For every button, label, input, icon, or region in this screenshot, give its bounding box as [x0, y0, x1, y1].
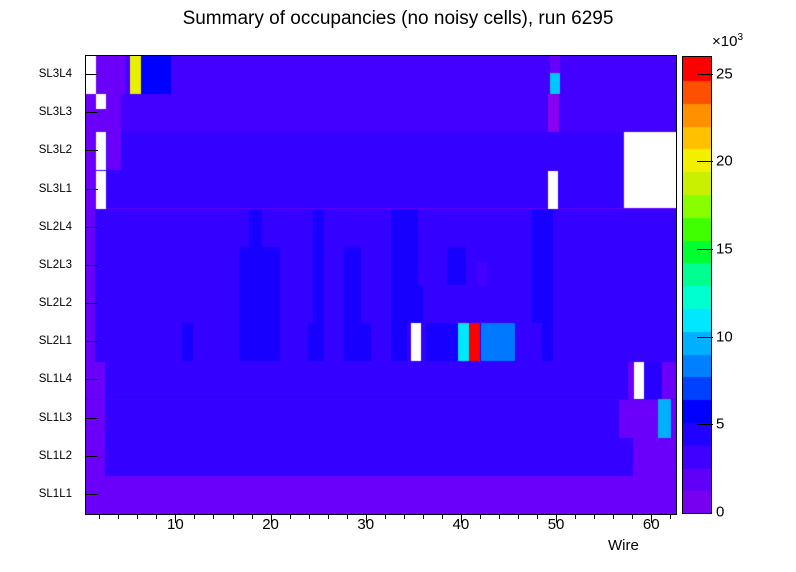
colorbar-tick-15: [697, 249, 713, 250]
y-axis-tick-sl1l2: [86, 456, 98, 457]
colorbar-exponent-power: 3: [737, 32, 743, 43]
y-axis-tick-sl1l4: [86, 379, 98, 380]
y-axis-tick-sl2l3: [86, 265, 98, 266]
y-axis-tick-sl1l1: [86, 494, 98, 495]
x-axis-tick-40: [461, 514, 462, 523]
y-axis-tick-sl2l1: [86, 341, 98, 342]
x-axis-title: Wire: [608, 537, 639, 554]
y-axis-tick-sl3l1: [86, 189, 98, 190]
y-axis-tick-sl2l2: [86, 303, 98, 304]
colorbar-tick-10: [697, 337, 713, 338]
x-axis-minor-tick: [347, 514, 348, 519]
colorbar-tick-label-20: 20: [716, 153, 733, 170]
x-axis-minor-tick: [670, 514, 671, 519]
x-axis-minor-tick: [632, 514, 633, 519]
x-axis-minor-tick: [385, 514, 386, 519]
x-axis-minor-tick: [442, 514, 443, 519]
y-axis-tick-label-sl2l2: SL2L2: [39, 297, 72, 309]
colorbar-tick-label-10: 10: [716, 328, 733, 345]
y-axis-tick-label-sl1l1: SL1L1: [39, 488, 72, 500]
y-axis-tick-sl3l2: [86, 150, 98, 151]
x-axis-tick-60: [651, 514, 652, 523]
root-canvas: Summary of occupancies (no noisy cells),…: [0, 0, 796, 572]
x-axis-minor-tick: [575, 514, 576, 519]
y-axis-tick-label-sl3l4: SL3L4: [39, 68, 72, 80]
x-axis-minor-tick: [213, 514, 214, 519]
x-axis-minor-tick: [118, 514, 119, 519]
colorbar-tick-5: [697, 424, 713, 425]
colorbar-tick-label-25: 25: [716, 65, 733, 82]
y-axis-tick-sl1l3: [86, 418, 98, 419]
y-axis-tick-label-sl1l2: SL1L2: [39, 450, 72, 462]
x-axis-tick-10: [175, 514, 176, 523]
page-title: Summary of occupancies (no noisy cells),…: [0, 8, 796, 30]
x-axis-minor-tick: [423, 514, 424, 519]
y-axis-tick-sl3l3: [86, 112, 98, 113]
x-axis-minor-tick: [309, 514, 310, 519]
y-axis-tick-label-sl3l2: SL3L2: [39, 144, 72, 156]
x-axis-minor-tick: [404, 514, 405, 519]
x-axis-minor-tick: [499, 514, 500, 519]
x-axis-minor-tick: [537, 514, 538, 519]
y-axis-tick-sl3l4: [86, 74, 98, 75]
x-axis-minor-tick: [137, 514, 138, 519]
colorbar-tick-label-5: 5: [716, 416, 724, 433]
colorbar-tick-label-15: 15: [716, 240, 733, 257]
y-axis: SL1L1SL1L2SL1L3SL1L4SL2L1SL2L2SL2L3SL2L4…: [0, 55, 80, 513]
colorbar[interactable]: [682, 56, 712, 514]
y-axis-tick-label-sl1l3: SL1L3: [39, 412, 72, 424]
x-axis-minor-tick: [518, 514, 519, 519]
x-axis-minor-tick: [290, 514, 291, 519]
x-axis-minor-tick: [594, 514, 595, 519]
x-axis-minor-tick: [480, 514, 481, 519]
y-axis-tick-label-sl3l1: SL3L1: [39, 183, 72, 195]
colorbar-tick-25: [697, 74, 713, 75]
x-axis-minor-tick: [613, 514, 614, 519]
x-axis-tick-50: [556, 514, 557, 523]
y-axis-tick-label-sl2l3: SL2L3: [39, 259, 72, 271]
heatmap-plot-area[interactable]: [85, 55, 677, 515]
x-axis-minor-tick: [233, 514, 234, 519]
x-axis-minor-tick: [156, 514, 157, 519]
y-axis-tick-label-sl3l3: SL3L3: [39, 106, 72, 118]
y-axis-tick-label-sl2l4: SL2L4: [39, 221, 72, 233]
y-axis-tick-label-sl2l1: SL2L1: [39, 335, 72, 347]
x-axis-minor-tick: [194, 514, 195, 519]
y-axis-tick-sl2l4: [86, 227, 98, 228]
colorbar-tick-20: [697, 161, 713, 162]
colorbar-tick-label-0: 0: [716, 504, 724, 521]
x-axis-tick-20: [271, 514, 272, 523]
x-axis-minor-tick: [99, 514, 100, 519]
colorbar-canvas[interactable]: [683, 57, 711, 513]
x-axis: 102030405060: [85, 516, 677, 540]
x-axis-minor-tick: [252, 514, 253, 519]
heatmap-canvas[interactable]: [86, 56, 676, 514]
x-axis-tick-30: [366, 514, 367, 523]
y-axis-tick-label-sl1l4: SL1L4: [39, 373, 72, 385]
x-axis-minor-tick: [328, 514, 329, 519]
colorbar-exponent-label: ×103: [712, 32, 743, 50]
